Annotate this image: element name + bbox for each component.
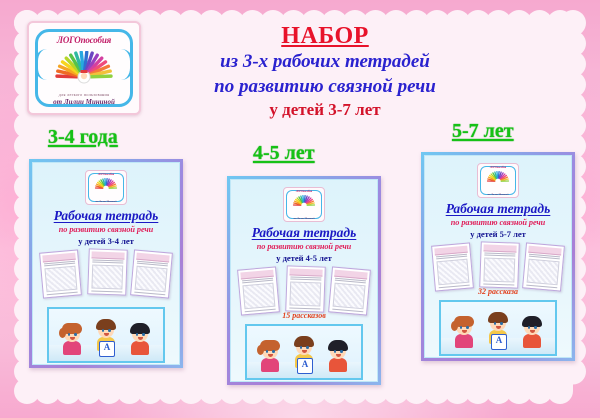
worksheet-thumb [431,242,474,291]
worksheet-thumb [87,248,128,295]
book-subtitle: по развитию связной речи [231,242,377,251]
mini-logo-author: от Лилии Мининой [86,200,126,203]
book-title: Рабочая тетрадь [33,208,179,224]
rainbow-fan-icon [486,171,510,187]
child-girl-left [455,319,473,348]
letter-block: А [99,341,115,357]
worksheet-thumb [285,265,326,312]
rainbow-fan-icon [53,51,115,91]
book-title: Рабочая тетрадь [231,225,377,241]
worksheet-thumb [237,266,280,315]
child-girl-left [63,326,81,355]
headline-line2: из 3-х рабочих тетрадей [175,51,475,74]
headline-line4: у детей 3-7 лет [175,100,475,120]
brand-logo: ЛОГОпособия для легкого пользования от Л… [27,21,141,115]
book-subtitle: по развитию связной речи [33,225,179,234]
rainbow-fan-icon [94,178,118,194]
book-cover-4-5[interactable]: ЛОГОпособия от Лилии Мининой Рабочая тет… [227,176,381,385]
worksheet-thumbnails [431,242,565,286]
poster-canvas: ЛОГОпособия для легкого пользования от Л… [0,0,600,418]
worksheet-thumbnails [237,266,371,310]
headline-block: НАБОР из 3-х рабочих тетрадей по развити… [175,24,475,120]
story-count-badge: 15 рассказов [231,311,377,320]
worksheet-thumb [479,241,520,288]
book-age-line: у детей 5-7 лет [425,229,571,239]
story-count-badge: 32 рассказа [425,287,571,296]
book-inner: ЛОГОпособия от Лилии Мининой Рабочая тет… [230,179,378,382]
book-subtitle: по развитию связной речи [425,218,571,227]
book-age-line: у детей 3-4 лет [33,236,179,246]
worksheet-thumb [130,249,173,298]
child-girl-left [261,343,279,372]
letter-block: А [297,358,313,374]
book-cover-5-7[interactable]: ЛОГОпособия от Лилии Мининой Рабочая тет… [421,152,575,361]
mini-logo-author: от Лилии Мининой [478,193,518,196]
age-label-4-5: 4-5 лет [253,142,315,165]
mini-brand-logo: ЛОГОпособия от Лилии Мининой [283,187,325,222]
book-inner: ЛОГОпособия от Лилии Мининой Рабочая тет… [424,155,572,358]
worksheet-thumb [328,266,371,315]
children-photo: А [47,307,165,363]
child-boy-right [131,326,149,355]
mini-logo-brand: ЛОГОпособия [478,166,518,169]
book-age-line: у детей 4-5 лет [231,253,377,263]
age-label-5-7: 5-7 лет [452,120,514,143]
mini-logo-author: от Лилии Мининой [284,217,324,220]
headline-line3: по развитию связной речи [175,76,475,99]
children-photo: А [439,300,557,356]
rainbow-fan-icon [292,195,316,211]
mini-brand-logo: ЛОГОпособия от Лилии Мининой [477,163,519,198]
book-title: Рабочая тетрадь [425,201,571,217]
child-boy-right [329,343,347,372]
book-cover-3-4[interactable]: ЛОГОпособия от Лилии Мининой Рабочая тет… [29,159,183,368]
worksheet-thumbnails [39,249,173,293]
age-label-3-4: 3-4 года [48,126,118,149]
logo-tagline: для легкого пользования [29,92,139,97]
logo-brand-text: ЛОГОпособия [29,35,139,45]
letter-block: А [491,334,507,350]
children-photo: А [245,324,363,380]
headline-nabor: НАБОР [175,24,475,49]
mini-logo-brand: ЛОГОпособия [86,173,126,176]
worksheet-thumb [522,242,565,291]
child-boy-right [523,319,541,348]
mini-brand-logo: ЛОГОпособия от Лилии Мининой [85,170,127,205]
book-inner: ЛОГОпособия от Лилии Мининой Рабочая тет… [32,162,180,365]
worksheet-thumb [39,249,82,298]
mini-logo-brand: ЛОГОпособия [284,190,324,193]
logo-author: от Лилии Мининой [29,98,139,106]
